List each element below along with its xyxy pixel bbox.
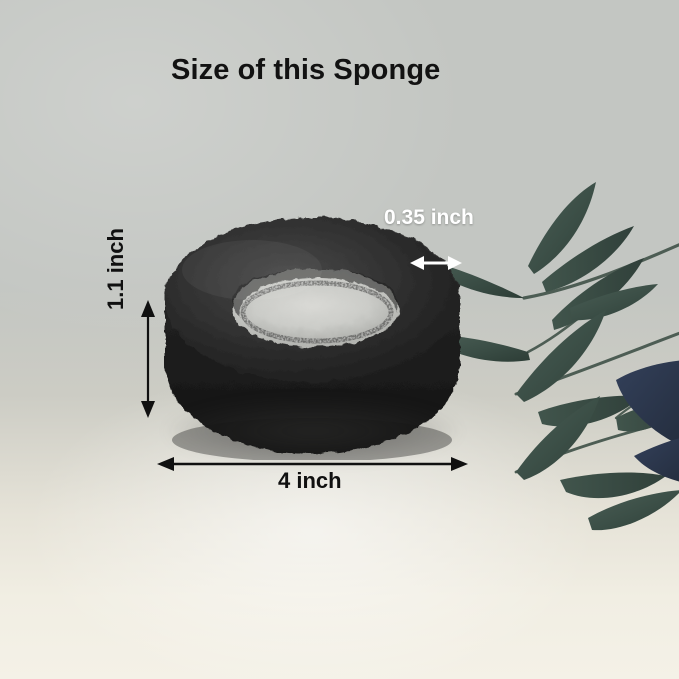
product-image-canvas: 4 inch 1.1 inch 0.35 inch Size of this S… bbox=[0, 0, 679, 679]
page-title: Size of this Sponge bbox=[171, 54, 440, 87]
sponge-object bbox=[160, 212, 465, 460]
plant-stems bbox=[516, 240, 679, 472]
width-dimension-label: 4 inch bbox=[278, 468, 342, 494]
sponge-shadow bbox=[168, 400, 458, 462]
height-dimension-arrow bbox=[134, 298, 162, 420]
height-dimension-label: 1.1 inch bbox=[103, 228, 129, 310]
thickness-dimension-label: 0.35 inch bbox=[384, 206, 474, 230]
